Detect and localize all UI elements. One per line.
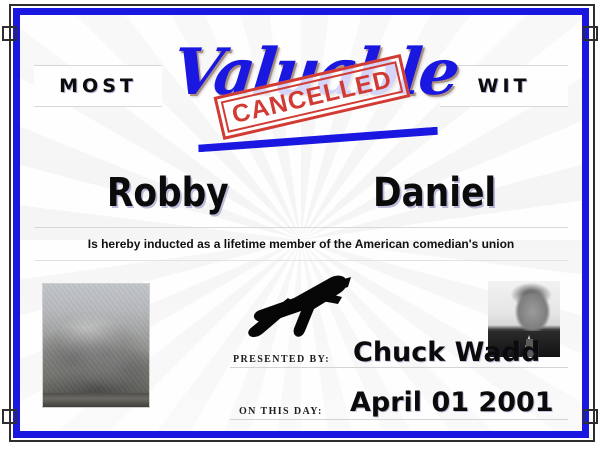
corner-notch-bottom-right <box>583 409 598 424</box>
corner-notch-top-left <box>2 26 17 41</box>
recipient-name-2: Daniel <box>373 170 496 216</box>
certificate-canvas: MOST WIT Valuable CANCELLED Robby <box>0 0 600 450</box>
presented-by-rule <box>230 367 568 368</box>
recipient-cell-1: Robby <box>34 165 301 221</box>
on-this-day-rule <box>230 419 568 420</box>
sentence-rule-top <box>34 227 568 228</box>
smoke-cloud-photo <box>42 283 150 408</box>
airplane-icon <box>242 271 352 343</box>
corner-notch-top-right <box>583 26 598 41</box>
on-this-day-label: ON THIS DAY: <box>239 406 323 417</box>
category-label-wit: WIT <box>478 75 531 97</box>
recipient-cell-2: Daniel <box>301 165 568 221</box>
category-label-most: MOST <box>59 75 137 97</box>
photo-grain-overlay <box>43 284 149 407</box>
recipient-names-row: Robby Daniel <box>34 165 568 221</box>
recipient-name-1: Robby <box>107 170 229 216</box>
corner-notch-bottom-left <box>2 409 17 424</box>
smoke-photo-ground <box>43 393 149 407</box>
certificate-content: MOST WIT Valuable CANCELLED Robby <box>20 15 582 431</box>
sentence-rule-bottom <box>34 260 568 261</box>
blue-certificate-frame: MOST WIT Valuable CANCELLED Robby <box>13 8 589 438</box>
category-box-left: MOST <box>34 65 162 107</box>
on-this-day-value: April 01 2001 <box>350 387 554 418</box>
induction-sentence: Is hereby inducted as a lifetime member … <box>34 237 568 251</box>
presented-by-label: PRESENTED BY: <box>233 354 330 365</box>
presented-by-value: Chuck Wadd <box>353 337 540 368</box>
